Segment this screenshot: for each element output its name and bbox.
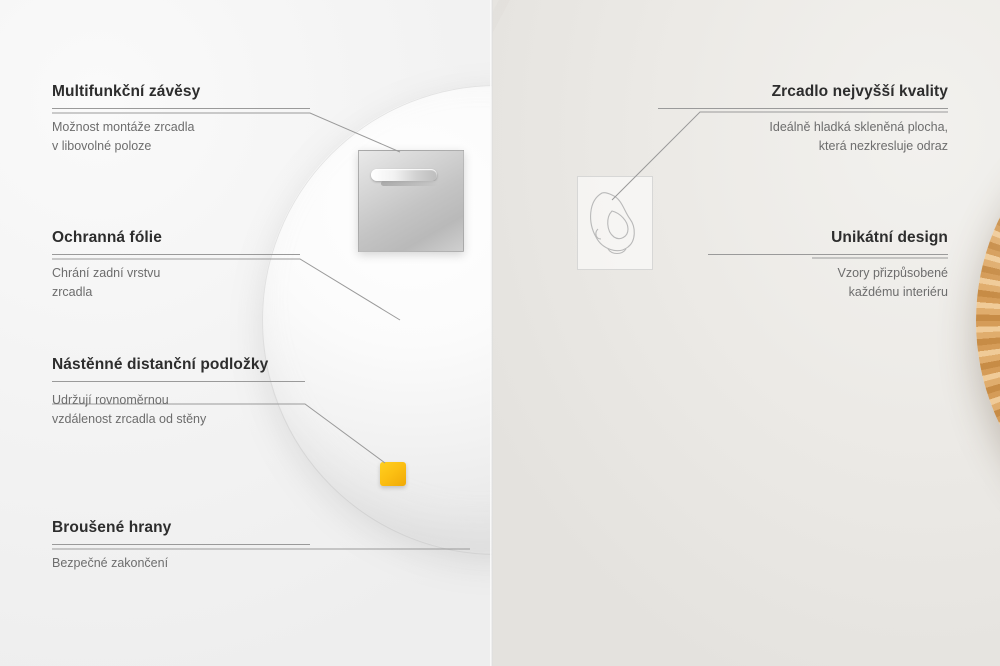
callout-line-2: zrcadla (52, 283, 300, 301)
callout-brousene-hrany: Broušené hrany Bezpečné zakončení (52, 518, 310, 573)
spacer-pad-graphic (380, 462, 406, 486)
hanger-keyhole-slot-icon (371, 169, 437, 181)
callout-title: Multifunkční závěsy (52, 82, 310, 101)
callout-line-1: Možnost montáže zrcadla (52, 118, 310, 136)
callout-title: Ochranná fólie (52, 228, 300, 247)
wall-art-poster (577, 176, 653, 270)
callout-nastenne-distancni-podlozky: Nástěnné distanční podložky Udržují rovn… (52, 355, 305, 428)
callout-zrcadlo-nejvyssi-kvality: Zrcadlo nejvyšší kvality Ideálně hladká … (658, 82, 948, 155)
callout-line-1: Udržují rovnoměrnou (52, 391, 305, 409)
callout-rule (658, 108, 948, 109)
callout-rule (52, 381, 305, 382)
callout-line-2: v libovolné poloze (52, 137, 310, 155)
callout-rule (52, 108, 310, 109)
callout-rule (52, 254, 300, 255)
round-mirror (976, 84, 1000, 558)
hanger-plate-graphic (358, 150, 464, 252)
panel-divider (490, 0, 493, 666)
callout-multifunkcni-zavesy: Multifunkční závěsy Možnost montáže zrca… (52, 82, 310, 155)
callout-title: Broušené hrany (52, 518, 310, 537)
callout-line-1: Vzory přizpůsobené (708, 264, 948, 282)
callout-line-2: vzdálenost zrcadla od stěny (52, 410, 305, 428)
callout-line-2: která nezkresluje odraz (658, 137, 948, 155)
callout-title: Nástěnné distanční podložky (52, 355, 305, 374)
callout-title: Zrcadlo nejvyšší kvality (658, 82, 948, 101)
callout-line-1: Bezpečné zakončení (52, 554, 310, 572)
callout-line-1: Chrání zadní vrstvu (52, 264, 300, 282)
callout-rule (52, 544, 310, 545)
line-art-face-icon (578, 177, 652, 269)
callout-line-2: každému interiéru (708, 283, 948, 301)
hanger-slot-shadow (381, 181, 439, 186)
callout-unikatni-design: Unikátní design Vzory přizpůsobené každé… (708, 228, 948, 301)
callout-ochranna-folie: Ochranná fólie Chrání zadní vrstvu zrcad… (52, 228, 300, 301)
fluted-wood-frame (976, 84, 1000, 558)
callout-title: Unikátní design (708, 228, 948, 247)
callout-line-1: Ideálně hladká skleněná plocha, (658, 118, 948, 136)
product-infographic: Multifunkční závěsy Možnost montáže zrca… (0, 0, 1000, 666)
callout-rule (708, 254, 948, 255)
